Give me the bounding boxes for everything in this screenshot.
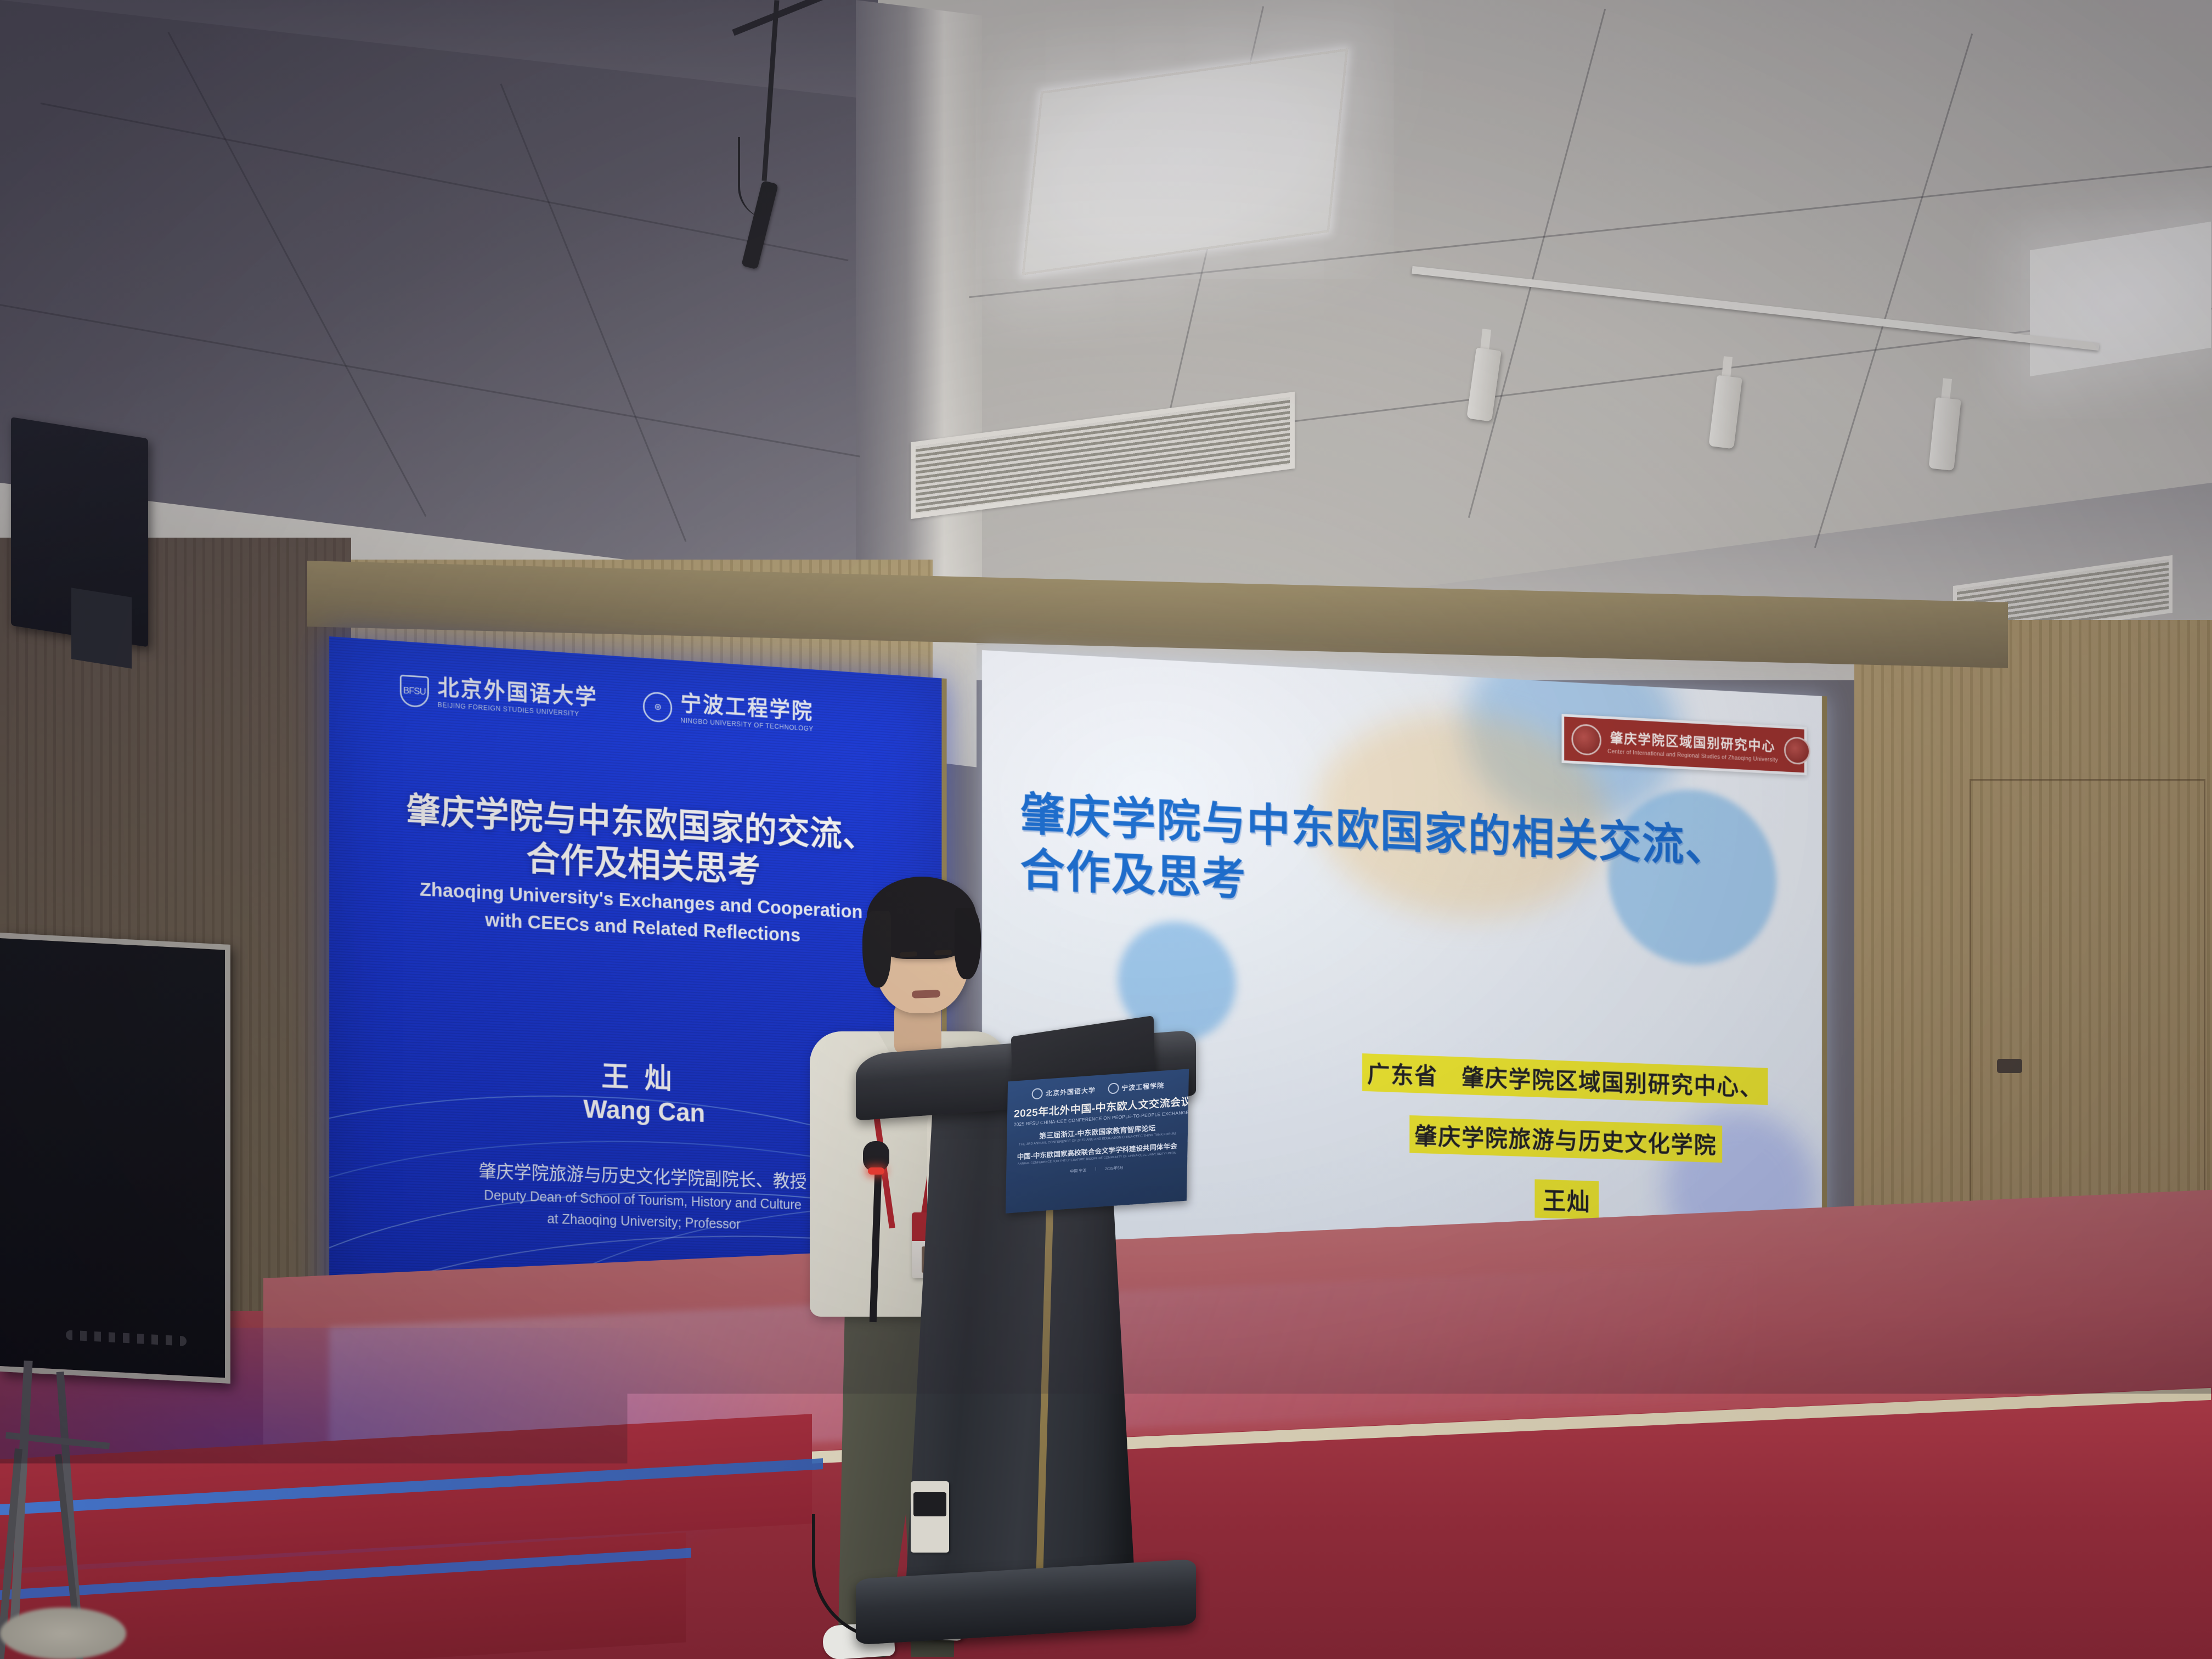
microphone-active-led-indicator xyxy=(868,1167,884,1175)
door-handle-icon[interactable] xyxy=(1997,1059,2022,1073)
podium-sign-divider: | xyxy=(1095,1167,1096,1172)
podium-logo-nbut: 宁波工程学院 xyxy=(1121,1080,1164,1092)
podium-power-plug xyxy=(913,1492,946,1516)
round-seal-icon: ⊛ xyxy=(643,691,672,723)
loudspeaker-bracket xyxy=(71,588,132,668)
podium-sign-place: 中国 宁波 xyxy=(1070,1167,1086,1174)
boom-mic-windscreen xyxy=(0,1607,126,1659)
credit-speaker-name: 王灿 xyxy=(1534,1180,1599,1220)
right-screen-credits: 广东省 肇庆学院区域国别研究中心、 肇庆学院旅游与历史文化学院 王灿 xyxy=(1316,1052,1812,1226)
center-seal-icon xyxy=(1571,724,1601,756)
podium-sign-date: 2025年5月 xyxy=(1105,1165,1124,1172)
presenter-mouth xyxy=(912,990,940,998)
presenter-hair-side-left xyxy=(862,911,891,988)
shield-crest-icon: BFSU xyxy=(400,674,429,708)
presenter-eye-left xyxy=(900,951,917,957)
presenter-hair-side-right xyxy=(955,908,981,979)
scene-root: BFSU 北京外国语大学 BEIJING FOREIGN STUDIES UNI… xyxy=(0,0,2212,1659)
shield-crest-icon xyxy=(1032,1088,1043,1099)
presenter-eye-right xyxy=(934,950,952,955)
wall-mounted-display[interactable] xyxy=(0,933,230,1384)
ceiling-bulkhead xyxy=(856,0,982,619)
podium-conference-sign: 北京外国语大学 宁波工程学院 2025年北外中国-中东欧人文交流会议 2025 … xyxy=(1006,1069,1189,1213)
university-seal-icon xyxy=(1784,736,1810,765)
round-seal-icon xyxy=(1108,1082,1119,1094)
podium-logo-bfsu: 北京外国语大学 xyxy=(1046,1085,1096,1098)
